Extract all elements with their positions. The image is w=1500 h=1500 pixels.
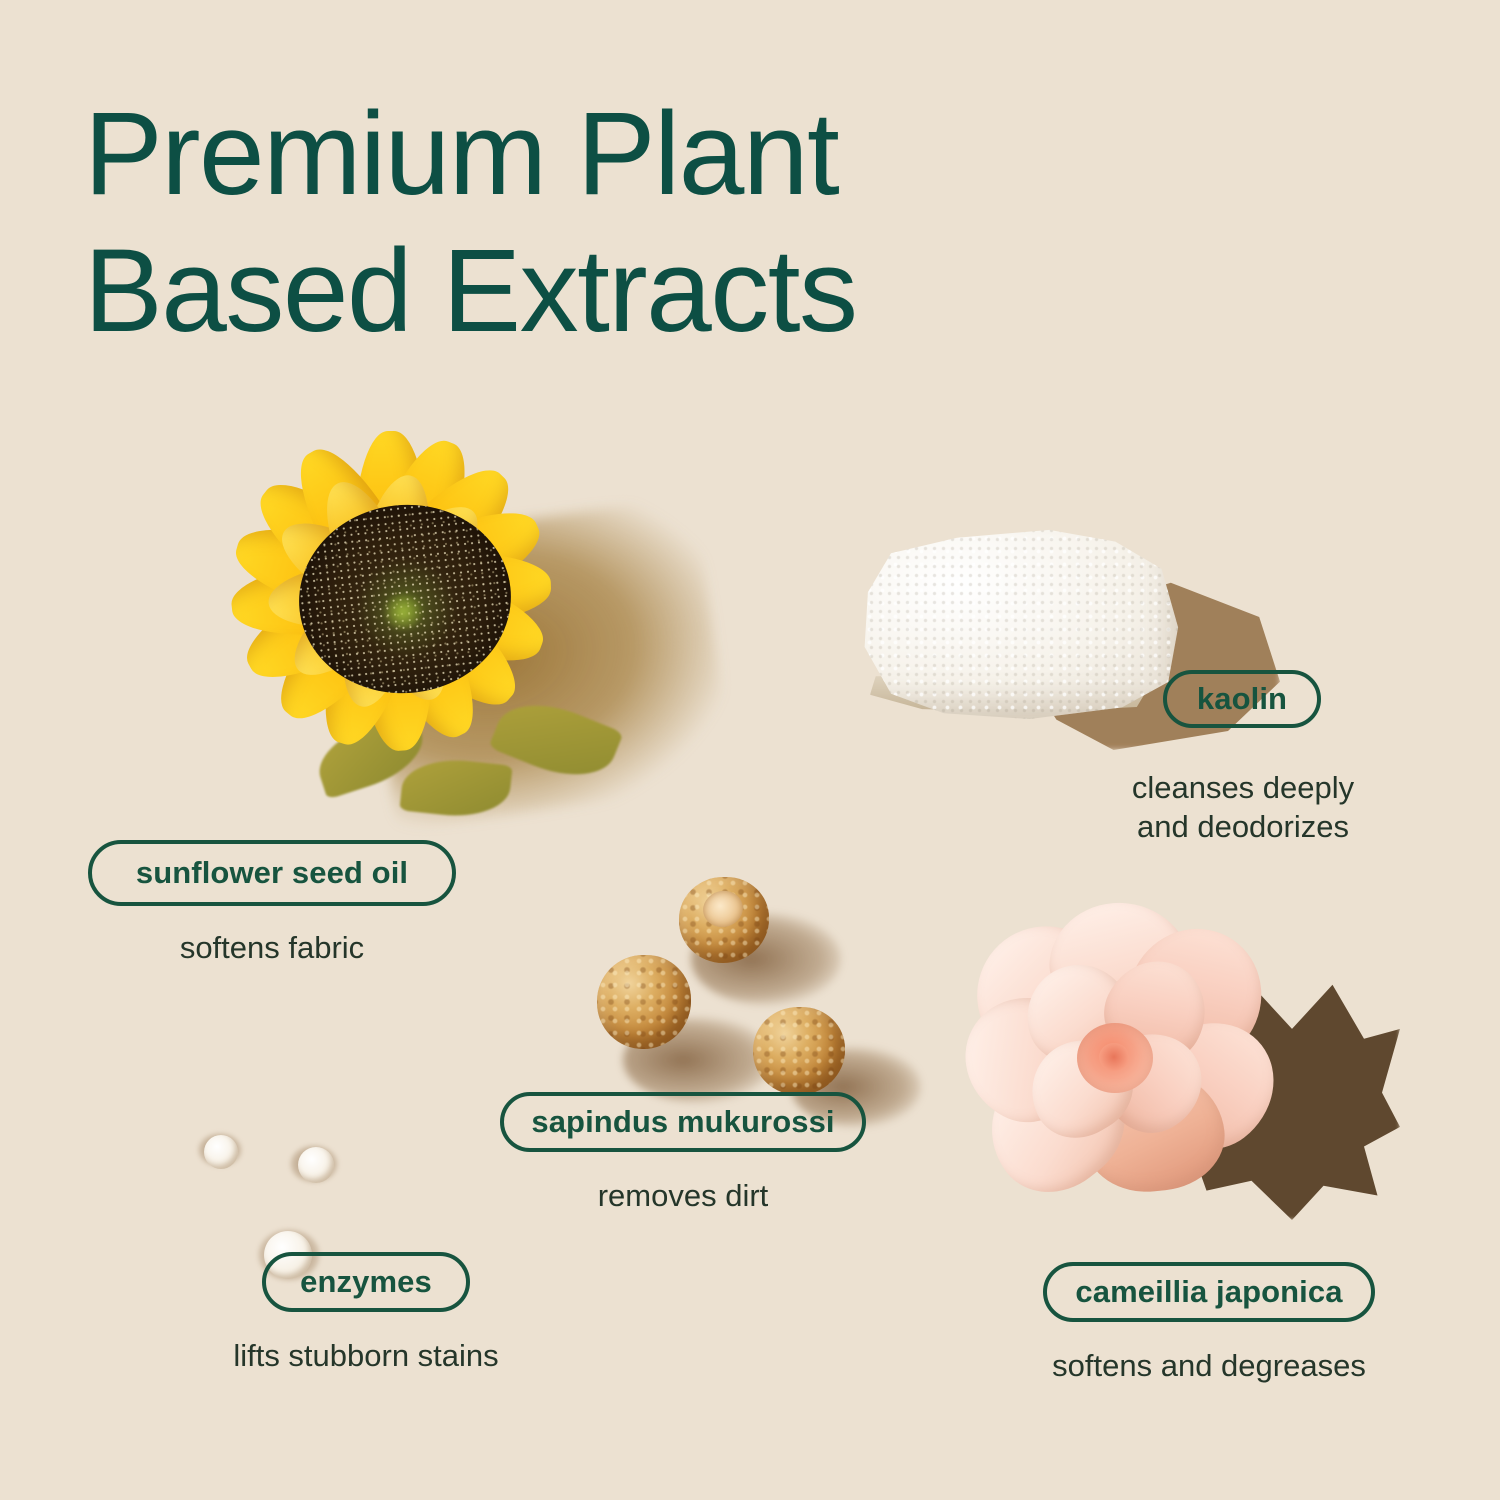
soap-nuts-photo (575, 865, 905, 1105)
sunflower-photo (196, 408, 716, 878)
soap-nut (753, 1007, 845, 1095)
label-pill-enzymes[interactable]: enzymes (262, 1252, 470, 1312)
label-pill-sunflower-seed-oil[interactable]: sunflower seed oil (88, 840, 456, 906)
caption-sapindus-mukurossi: removes dirt (500, 1176, 866, 1215)
label-pill-sapindus-mukurossi[interactable]: sapindus mukurossi (500, 1092, 866, 1152)
soap-nut (597, 955, 691, 1049)
enzyme-bead (204, 1135, 238, 1169)
caption-cameillia-japonica: softens and degreases (1026, 1346, 1392, 1385)
sunflower-core-highlight (381, 594, 425, 630)
caption-enzymes: lifts stubborn stains (180, 1336, 552, 1375)
kaolin-clay-photo (840, 498, 1270, 778)
enzyme-bead (298, 1147, 334, 1183)
caption-sunflower-seed-oil: softens fabric (88, 928, 456, 967)
page-title: Premium Plant Based Extracts (84, 86, 1064, 360)
label-pill-cameillia-japonica[interactable]: cameillia japonica (1043, 1262, 1375, 1322)
label-pill-kaolin[interactable]: kaolin (1163, 670, 1321, 728)
camellia-flower-photo (960, 895, 1400, 1275)
camellia-center (1077, 1023, 1153, 1093)
camellia-bloom (964, 901, 1282, 1201)
caption-kaolin: cleanses deeply and deodorizes (1060, 768, 1426, 846)
kaolin-rock (858, 526, 1188, 721)
ingredient-infographic: Premium Plant Based Extracts (0, 0, 1500, 1500)
